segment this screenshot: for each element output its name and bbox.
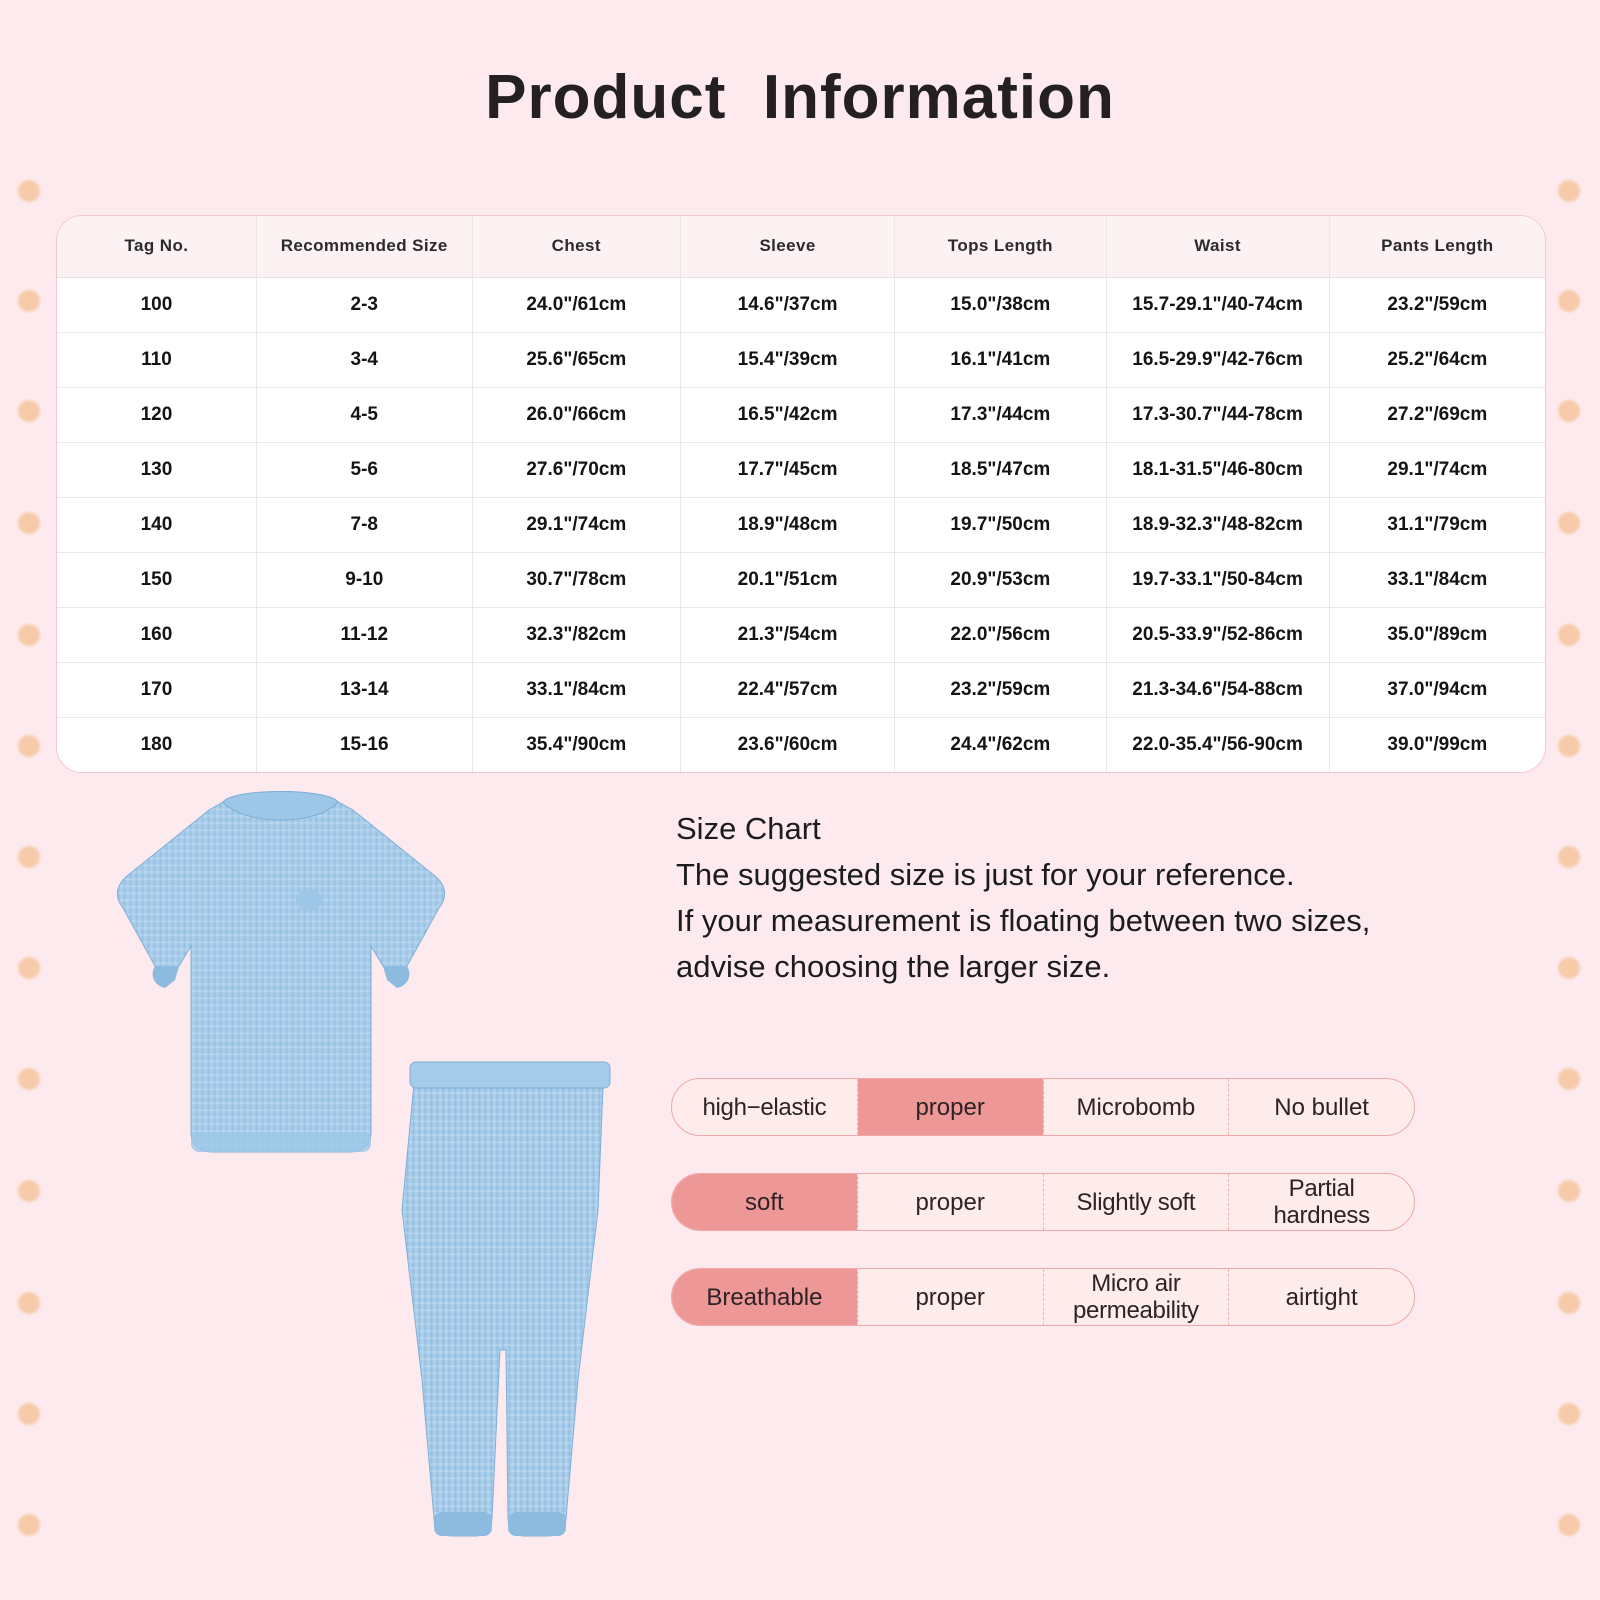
table-cell: 14.6"/37cm	[680, 277, 894, 332]
table-cell: 39.0"/99cm	[1329, 717, 1545, 772]
decorative-dot	[18, 846, 40, 868]
table-cell: 27.2"/69cm	[1329, 387, 1545, 442]
table-cell: 35.0"/89cm	[1329, 607, 1545, 662]
table-cell: 24.0"/61cm	[472, 277, 680, 332]
table-cell: 16.5"/42cm	[680, 387, 894, 442]
table-cell: 15-16	[256, 717, 472, 772]
decorative-dot	[1558, 180, 1580, 202]
table-cell: 13-14	[256, 662, 472, 717]
attribute-segment[interactable]: Slightly soft	[1044, 1174, 1230, 1230]
table-cell: 15.0"/38cm	[895, 277, 1106, 332]
table-cell: 15.4"/39cm	[680, 332, 894, 387]
column-header-tops-length: Tops Length	[895, 216, 1106, 277]
size-chart-heading: Size Chart	[676, 806, 1476, 852]
table-cell: 11-12	[256, 607, 472, 662]
table-cell: 25.2"/64cm	[1329, 332, 1545, 387]
table-row: 17013-1433.1"/84cm22.4"/57cm23.2"/59cm21…	[57, 662, 1545, 717]
attribute-segment[interactable]: Partial hardness	[1229, 1174, 1414, 1230]
decorative-dot	[18, 290, 40, 312]
decorative-dot	[18, 735, 40, 757]
decorative-dot	[18, 957, 40, 979]
attribute-segment[interactable]: Breathable	[672, 1269, 858, 1325]
decorative-dot	[18, 400, 40, 422]
table-cell: 37.0"/94cm	[1329, 662, 1545, 717]
attribute-bar-elasticity: high−elasticproperMicrobombNo bullet	[671, 1078, 1415, 1136]
column-header-recommended-size: Recommended Size	[256, 216, 472, 277]
table-cell: 17.7"/45cm	[680, 442, 894, 497]
size-chart-line-1: The suggested size is just for your refe…	[676, 852, 1476, 898]
decorative-dot	[1558, 512, 1580, 534]
right-dot-decoration	[1540, 0, 1600, 1600]
table-row: 1305-627.6"/70cm17.7"/45cm18.5"/47cm18.1…	[57, 442, 1545, 497]
column-header-sleeve: Sleeve	[680, 216, 894, 277]
decorative-dot	[1558, 624, 1580, 646]
table-cell: 4-5	[256, 387, 472, 442]
product-images	[60, 780, 660, 1570]
size-table-body: 1002-324.0"/61cm14.6"/37cm15.0"/38cm15.7…	[57, 277, 1545, 772]
decorative-dot	[18, 624, 40, 646]
attribute-segment[interactable]: proper	[858, 1174, 1044, 1230]
table-cell: 150	[57, 552, 256, 607]
attribute-segment[interactable]: airtight	[1229, 1269, 1414, 1325]
attribute-segment[interactable]: proper	[858, 1079, 1044, 1135]
table-cell: 19.7"/50cm	[895, 497, 1106, 552]
table-cell: 27.6"/70cm	[472, 442, 680, 497]
table-cell: 26.0"/66cm	[472, 387, 680, 442]
left-dot-decoration	[0, 0, 60, 1600]
table-row: 1407-829.1"/74cm18.9"/48cm19.7"/50cm18.9…	[57, 497, 1545, 552]
size-table-container: Tag No. Recommended Size Chest Sleeve To…	[56, 215, 1546, 773]
table-cell: 22.0"/56cm	[895, 607, 1106, 662]
table-cell: 20.5-33.9"/52-86cm	[1106, 607, 1329, 662]
table-cell: 16.1"/41cm	[895, 332, 1106, 387]
column-header-chest: Chest	[472, 216, 680, 277]
table-cell: 110	[57, 332, 256, 387]
table-cell: 18.9-32.3"/48-82cm	[1106, 497, 1329, 552]
table-cell: 21.3-34.6"/54-88cm	[1106, 662, 1329, 717]
table-cell: 17.3"/44cm	[895, 387, 1106, 442]
table-cell: 130	[57, 442, 256, 497]
table-cell: 20.1"/51cm	[680, 552, 894, 607]
table-cell: 20.9"/53cm	[895, 552, 1106, 607]
table-cell: 24.4"/62cm	[895, 717, 1106, 772]
decorative-dot	[1558, 1292, 1580, 1314]
table-row: 1103-425.6"/65cm15.4"/39cm16.1"/41cm16.5…	[57, 332, 1545, 387]
decorative-dot	[1558, 735, 1580, 757]
attribute-segment[interactable]: Micro air permeability	[1044, 1269, 1230, 1325]
attribute-segment[interactable]: soft	[672, 1174, 858, 1230]
table-cell: 15.7-29.1"/40-74cm	[1106, 277, 1329, 332]
table-cell: 29.1"/74cm	[472, 497, 680, 552]
decorative-dot	[18, 1180, 40, 1202]
decorative-dot	[1558, 290, 1580, 312]
table-row: 1204-526.0"/66cm16.5"/42cm17.3"/44cm17.3…	[57, 387, 1545, 442]
table-cell: 160	[57, 607, 256, 662]
decorative-dot	[18, 1514, 40, 1536]
column-header-tag-no: Tag No.	[57, 216, 256, 277]
table-cell: 170	[57, 662, 256, 717]
table-cell: 17.3-30.7"/44-78cm	[1106, 387, 1329, 442]
decorative-dot	[1558, 400, 1580, 422]
decorative-dot	[1558, 846, 1580, 868]
decorative-dot	[1558, 1180, 1580, 1202]
table-row: 18015-1635.4"/90cm23.6"/60cm24.4"/62cm22…	[57, 717, 1545, 772]
table-cell: 33.1"/84cm	[472, 662, 680, 717]
decorative-dot	[1558, 1403, 1580, 1425]
column-header-waist: Waist	[1106, 216, 1329, 277]
table-cell: 180	[57, 717, 256, 772]
attribute-bars: high−elasticproperMicrobombNo bulletsoft…	[671, 1078, 1415, 1363]
table-row: 1002-324.0"/61cm14.6"/37cm15.0"/38cm15.7…	[57, 277, 1545, 332]
decorative-dot	[1558, 1514, 1580, 1536]
table-cell: 120	[57, 387, 256, 442]
table-cell: 25.6"/65cm	[472, 332, 680, 387]
attribute-segment[interactable]: high−elastic	[672, 1079, 858, 1135]
table-cell: 2-3	[256, 277, 472, 332]
table-cell: 23.2"/59cm	[895, 662, 1106, 717]
page-title: Product Information	[0, 62, 1600, 133]
table-cell: 19.7-33.1"/50-84cm	[1106, 552, 1329, 607]
table-cell: 9-10	[256, 552, 472, 607]
size-chart-line-2: If your measurement is floating between …	[676, 898, 1476, 944]
table-cell: 33.1"/84cm	[1329, 552, 1545, 607]
column-header-pants-length: Pants Length	[1329, 216, 1545, 277]
decorative-dot	[18, 1292, 40, 1314]
thermal-pants-image	[390, 1050, 630, 1550]
decorative-dot	[18, 512, 40, 534]
table-cell: 18.9"/48cm	[680, 497, 894, 552]
table-cell: 100	[57, 277, 256, 332]
table-cell: 22.0-35.4"/56-90cm	[1106, 717, 1329, 772]
table-row: 16011-1232.3"/82cm21.3"/54cm22.0"/56cm20…	[57, 607, 1545, 662]
attribute-segment[interactable]: proper	[858, 1269, 1044, 1325]
table-cell: 23.2"/59cm	[1329, 277, 1545, 332]
table-cell: 22.4"/57cm	[680, 662, 894, 717]
table-cell: 18.5"/47cm	[895, 442, 1106, 497]
table-cell: 31.1"/79cm	[1329, 497, 1545, 552]
size-table: Tag No. Recommended Size Chest Sleeve To…	[57, 216, 1545, 772]
table-cell: 35.4"/90cm	[472, 717, 680, 772]
table-cell: 30.7"/78cm	[472, 552, 680, 607]
table-cell: 23.6"/60cm	[680, 717, 894, 772]
table-cell: 7-8	[256, 497, 472, 552]
table-row: 1509-1030.7"/78cm20.1"/51cm20.9"/53cm19.…	[57, 552, 1545, 607]
table-cell: 5-6	[256, 442, 472, 497]
table-cell: 16.5-29.9"/42-76cm	[1106, 332, 1329, 387]
attribute-segment[interactable]: Microbomb	[1044, 1079, 1230, 1135]
table-cell: 18.1-31.5"/46-80cm	[1106, 442, 1329, 497]
decorative-dot	[18, 1068, 40, 1090]
attribute-segment[interactable]: No bullet	[1229, 1079, 1414, 1135]
attribute-bar-softness: softproperSlightly softPartial hardness	[671, 1173, 1415, 1231]
table-header-row: Tag No. Recommended Size Chest Sleeve To…	[57, 216, 1545, 277]
size-chart-line-3: advise choosing the larger size.	[676, 944, 1476, 990]
table-cell: 21.3"/54cm	[680, 607, 894, 662]
size-table-header: Tag No. Recommended Size Chest Sleeve To…	[57, 216, 1545, 277]
decorative-dot	[1558, 1068, 1580, 1090]
attribute-bar-breathability: BreathableproperMicro air permeabilityai…	[671, 1268, 1415, 1326]
decorative-dot	[18, 1403, 40, 1425]
table-cell: 32.3"/82cm	[472, 607, 680, 662]
table-cell: 29.1"/74cm	[1329, 442, 1545, 497]
decorative-dot	[18, 180, 40, 202]
table-cell: 140	[57, 497, 256, 552]
size-chart-note: Size Chart The suggested size is just fo…	[676, 806, 1476, 990]
table-cell: 3-4	[256, 332, 472, 387]
decorative-dot	[1558, 957, 1580, 979]
